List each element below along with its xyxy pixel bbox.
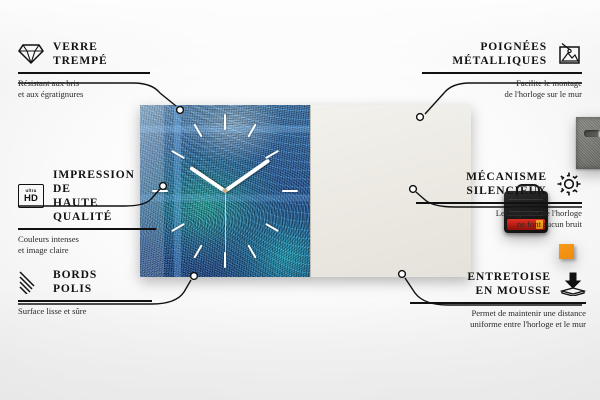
- feature-divider: [410, 302, 586, 304]
- feature-title: POIGNÉES MÉTALLIQUES: [452, 40, 547, 68]
- ultra-hd-icon-main-text: HD: [24, 194, 38, 204]
- feature-divider: [18, 300, 152, 302]
- hanger-keyhole-slot: [584, 130, 600, 137]
- feature-title: MÉCANISME SILENCIEUX: [466, 170, 547, 198]
- infographic-canvas: VERRE TREMPÉ Résistant aux bris et aux é…: [0, 0, 600, 400]
- picture-hanger-icon: [556, 41, 582, 67]
- clock-tick: [224, 114, 226, 130]
- polished-edges-icon: [18, 269, 44, 295]
- feature-mecanisme-silencieux: MÉCANISME SILENCIEUX Les aiguilles de l'…: [416, 170, 582, 231]
- clock-front-face: [140, 105, 310, 277]
- clock-center-pin: [223, 189, 227, 193]
- feature-entretoise-en-mousse: ENTRETOISE EN MOUSSE Permet de maintenir…: [410, 270, 586, 331]
- clock-tick: [282, 190, 298, 192]
- feature-description: Les aiguilles de l'horloge ne font aucun…: [416, 208, 582, 231]
- diamond-icon: [18, 41, 44, 67]
- feature-title: VERRE TREMPÉ: [53, 40, 108, 68]
- feature-title: BORDS POLIS: [53, 268, 97, 296]
- feature-title: ENTRETOISE EN MOUSSE: [467, 270, 551, 298]
- feature-bords-polis: BORDS POLIS Surface lisse et sûre: [18, 268, 152, 317]
- feature-divider: [18, 228, 156, 230]
- metal-hanger-plate: [576, 117, 600, 169]
- foam-spacer: [559, 244, 574, 259]
- feature-divider: [422, 72, 582, 74]
- clock-tick: [224, 252, 226, 268]
- arrow-down-layers-icon: [560, 271, 586, 297]
- feature-description: Facilite le montage de l'horloge sur le …: [422, 78, 582, 101]
- feature-description: Résistant aux bris et aux égratignures: [18, 78, 150, 101]
- feature-impression-haute-qualite: ultra HD IMPRESSION DE HAUTE QUALITÉ Cou…: [18, 168, 156, 257]
- feature-divider: [18, 72, 150, 74]
- feature-description: Surface lisse et sûre: [18, 306, 152, 318]
- feature-description: Permet de maintenir une distance uniform…: [410, 308, 586, 331]
- feature-description: Couleurs intenses et image claire: [18, 234, 156, 257]
- feature-divider: [416, 202, 582, 204]
- clock-second-hand: [225, 191, 226, 253]
- feature-title: IMPRESSION DE HAUTE QUALITÉ: [53, 168, 156, 224]
- feature-poignees-metalliques: POIGNÉES MÉTALLIQUES Facilite le montage…: [422, 40, 582, 101]
- feature-verre-trempe: VERRE TREMPÉ Résistant aux bris et aux é…: [18, 40, 150, 101]
- gear-icon: [556, 171, 582, 197]
- ultra-hd-icon: ultra HD: [18, 183, 44, 209]
